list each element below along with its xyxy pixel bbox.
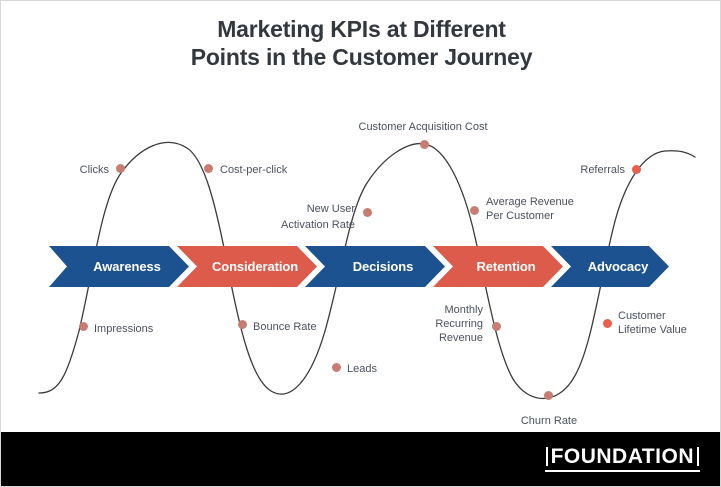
kpi-label-average-revenue-per-customer-line1: Average Revenue: [486, 196, 616, 209]
stage-label-decisions[interactable]: Decisions: [323, 246, 443, 287]
kpi-dot-customer-acquisition-cost[interactable]: [420, 140, 429, 149]
kpi-label-clicks: Clicks: [29, 164, 109, 177]
kpi-label-customer-acquisition-cost: Customer Acquisition Cost: [333, 121, 513, 134]
kpi-dot-leads[interactable]: [332, 363, 341, 372]
kpi-dot-churn-rate[interactable]: [544, 391, 553, 400]
kpi-label-customer-lifetime-value-line1: Customer: [618, 310, 718, 323]
kpi-label-average-revenue-per-customer-line2: Per Customer: [486, 210, 616, 223]
kpi-label-monthly-recurring-revenue-line3: Revenue: [399, 332, 483, 345]
stage-label-advocacy[interactable]: Advocacy: [569, 246, 667, 287]
kpi-label-customer-lifetime-value-line2: Lifetime Value: [618, 324, 718, 337]
kpi-label-churn-rate: Churn Rate: [498, 415, 600, 428]
kpi-dot-customer-lifetime-value[interactable]: [603, 319, 612, 328]
kpi-label-new-user-activation-rate-line1: New User: [251, 203, 355, 216]
kpi-label-impressions: Impressions: [94, 323, 204, 336]
logo-right-bracket-icon: [697, 447, 699, 466]
stage-label-consideration[interactable]: Consideration: [195, 246, 315, 287]
footer-bar: FOUNDATION: [1, 432, 721, 486]
kpi-dot-clicks[interactable]: [116, 164, 125, 173]
kpi-dot-bounce-rate[interactable]: [238, 320, 247, 329]
stage-label-retention[interactable]: Retention: [451, 246, 561, 287]
kpi-dot-referrals[interactable]: [632, 165, 641, 174]
kpi-label-cost-per-click: Cost-per-click: [220, 164, 350, 177]
logo-wordmark: FOUNDATION: [548, 445, 697, 469]
funnel-stage-bar: Awareness Consideration Decisions Retent…: [49, 246, 669, 287]
infographic-canvas: Marketing KPIs at Different Points in th…: [0, 0, 721, 487]
kpi-label-bounce-rate: Bounce Rate: [253, 321, 363, 334]
kpi-dot-cost-per-click[interactable]: [204, 164, 213, 173]
kpi-label-new-user-activation-rate-line2: Activation Rate: [251, 219, 355, 232]
kpi-dot-monthly-recurring-revenue[interactable]: [492, 322, 501, 331]
kpi-dot-average-revenue-per-customer[interactable]: [470, 206, 479, 215]
kpi-label-monthly-recurring-revenue-line2: Recurring: [399, 318, 483, 331]
stage-label-awareness[interactable]: Awareness: [67, 246, 187, 287]
kpi-label-monthly-recurring-revenue-line1: Monthly: [399, 304, 483, 317]
kpi-dot-new-user-activation-rate[interactable]: [363, 208, 372, 217]
kpi-label-leads: Leads: [347, 363, 417, 376]
foundation-logo[interactable]: FOUNDATION: [545, 445, 700, 472]
kpi-dot-impressions[interactable]: [79, 322, 88, 331]
journey-chart: Awareness Consideration Decisions Retent…: [1, 1, 721, 433]
kpi-label-referrals: Referrals: [541, 164, 625, 177]
